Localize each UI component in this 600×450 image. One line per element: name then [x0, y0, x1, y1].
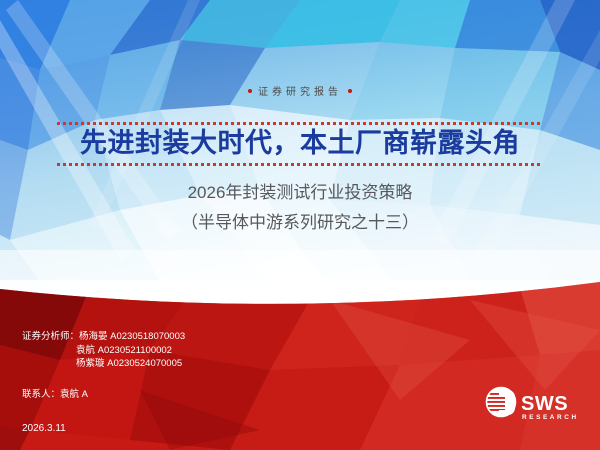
sws-research-logo: SWS RESEARCH [484, 386, 584, 426]
analyst-line-2: 袁航 A0230521100002 [22, 344, 185, 358]
analyst-line-3: 杨紫璇 A0230524070005 [22, 357, 185, 371]
kicker-dot-right [348, 89, 352, 93]
report-cover-slide: 证券研究报告 先进封装大时代，本土厂商崭露头角 2026年封装测试行业投资策略 … [0, 0, 600, 450]
kicker-text: 证券研究报告 [258, 87, 342, 98]
publish-date: 2026.3.11 [22, 423, 66, 434]
sws-tagline: RESEARCH [522, 414, 579, 421]
sws-wordmark: SWS [521, 393, 568, 415]
contact-line: 联系人：袁航 A [22, 386, 88, 400]
subtitle-secondary: （半导体中游系列研究之十三） [0, 208, 600, 233]
subtitle-primary: 2026年封装测试行业投资策略 [0, 178, 600, 203]
analyst-block: 证券分析师：杨海晏 A0230518070003 袁航 A02305211000… [22, 330, 185, 371]
sws-logo-mark [487, 388, 516, 417]
page-title: 先进封装大时代，本土厂商崭露头角 [0, 126, 600, 160]
kicker-line: 证券研究报告 [0, 83, 600, 98]
title-rule-bottom [57, 163, 543, 166]
analyst-line-1: 证券分析师：杨海晏 A0230518070003 [22, 330, 185, 344]
kicker-dot-left [248, 89, 252, 93]
title-rule-top [57, 122, 543, 125]
